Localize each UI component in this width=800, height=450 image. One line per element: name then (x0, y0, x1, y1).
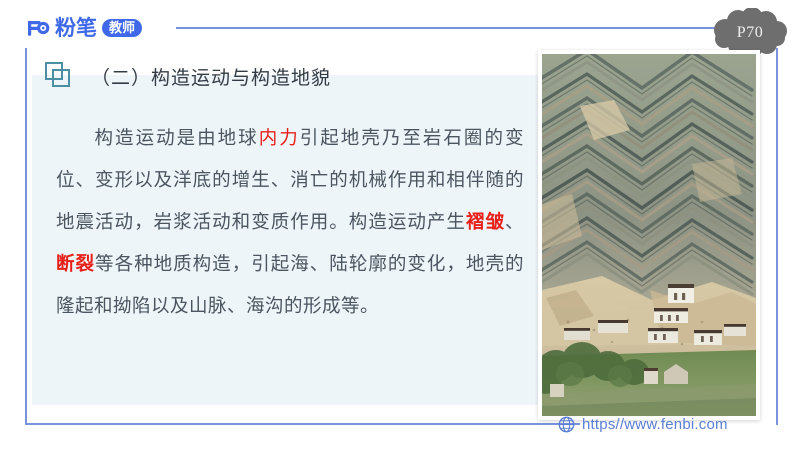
slide-root: 粉笔 教师 P70 (0, 0, 800, 450)
body-segment-3-highlight: 褶皱 (466, 211, 505, 232)
body-segment-1-highlight: 内力 (259, 127, 300, 148)
header-rule (176, 27, 716, 29)
page-number-label: P70 (708, 8, 792, 56)
body-segment-0: 构造运动是由地球 (93, 127, 259, 148)
fenbi-logo-icon (24, 15, 50, 41)
brand-logo: 粉笔 教师 (24, 14, 142, 42)
page-title: （二）构造运动与构造地貌 (91, 63, 331, 90)
folded-rock-strata-village-photo (542, 54, 756, 416)
globe-icon (558, 416, 575, 433)
frame-border-right (776, 48, 778, 425)
slide-title: （二）构造运动与构造地貌 (45, 62, 331, 90)
body-paragraph: 构造运动是由地球内力引起地壳乃至岩石圈的变位、变形以及洋底的增生、消亡的机械作用… (56, 117, 524, 327)
footer-url[interactable]: https//www.fenbi.com (558, 416, 728, 433)
slide-photo-frame (538, 50, 760, 420)
body-segment-6: 等各种地质构造，引起海、陆轮廓的变化，地壳的隆起和拗陷以及山脉、海沟的形成等。 (56, 253, 524, 316)
page-number-badge: P70 (708, 8, 792, 56)
brand-badge: 教师 (102, 19, 142, 38)
brand-name: 粉笔 (55, 18, 97, 39)
body-segment-5-highlight: 断裂 (56, 253, 95, 274)
body-segment-4: 、 (505, 211, 524, 232)
overlapping-squares-icon (45, 62, 73, 90)
frame-border-left (25, 48, 27, 425)
frame-border-bottom (25, 423, 580, 425)
url-label: https//www.fenbi.com (582, 416, 728, 433)
